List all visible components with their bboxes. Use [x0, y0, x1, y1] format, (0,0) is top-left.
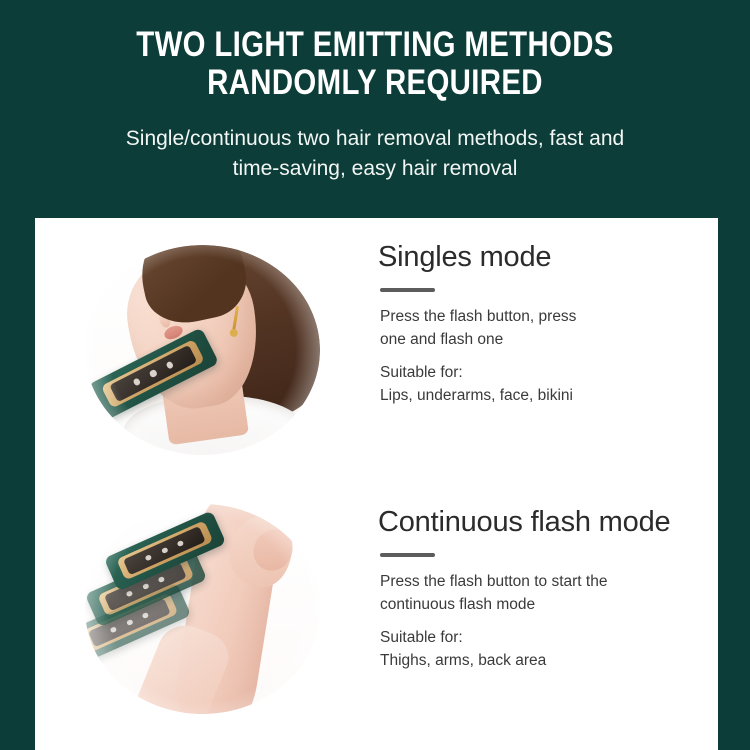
face-scene [85, 245, 320, 455]
content-card: Singles mode Press the flash button, pre… [35, 218, 718, 750]
suitable-label: Suitable for: [380, 626, 463, 649]
indicator-dot [145, 554, 153, 562]
continuous-mode-text: Continuous flash mode Press the flash bu… [378, 484, 718, 750]
suitable-value: Lips, underarms, face, bikini [380, 384, 710, 407]
indicator-dot [132, 378, 140, 386]
indicator-dot [126, 618, 134, 626]
mode-title: Continuous flash mode [378, 505, 670, 539]
continuous-mode-photo [85, 504, 320, 714]
indicator-dot [110, 626, 118, 634]
indicator-dot [161, 547, 169, 555]
continuous-photo-inner [85, 504, 320, 714]
mode-row-continuous: Continuous flash mode Press the flash bu… [35, 484, 718, 750]
title-divider [380, 553, 435, 557]
mode-description: Press the flash button, press one and fl… [380, 305, 700, 351]
singles-mode-text: Singles mode Press the flash button, pre… [378, 218, 718, 484]
promo-page: TWO LIGHT EMITTING METHODS RANDOMLY REQU… [0, 0, 750, 750]
suitable-label: Suitable for: [380, 361, 463, 384]
indicator-dot [149, 370, 157, 378]
header-band: TWO LIGHT EMITTING METHODS RANDOMLY REQU… [0, 0, 750, 218]
indicator-dot [158, 576, 166, 584]
indicator-dot [177, 540, 185, 548]
mode-row-singles: Singles mode Press the flash button, pre… [35, 218, 718, 484]
suitable-value: Thighs, arms, back area [380, 649, 710, 672]
mode-description: Press the flash button to start the cont… [380, 570, 700, 616]
leg-scene [85, 504, 320, 714]
indicator-dot [142, 583, 150, 591]
singles-mode-photo [85, 245, 320, 455]
title-divider [380, 288, 435, 292]
indicator-dot [126, 590, 134, 598]
mode-title: Singles mode [378, 240, 551, 274]
singles-photo-inner [85, 245, 320, 455]
page-title: TWO LIGHT EMITTING METHODS RANDOMLY REQU… [60, 0, 690, 102]
indicator-dot [165, 361, 173, 369]
indicator-dot [142, 611, 150, 619]
page-subtitle: Single/continuous two hair removal metho… [0, 102, 750, 184]
